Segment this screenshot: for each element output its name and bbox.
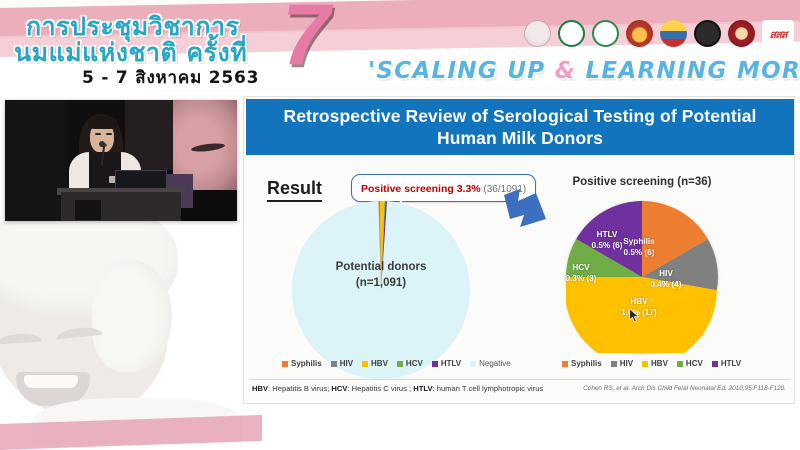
- legend-label: HIV: [340, 359, 353, 368]
- legend-label: HTLV: [441, 359, 461, 368]
- legend-item: Syphilis: [282, 359, 322, 368]
- blue-arrow-icon: [502, 185, 550, 231]
- pie-label-hcv: HCV 0.3% (3): [560, 263, 602, 284]
- slogan-ampersand: &: [555, 58, 576, 84]
- pie-label-hiv-name: HIV: [644, 269, 688, 280]
- footnote-htlv-abbr: HTLV: [413, 384, 432, 393]
- legend-item: HCV: [677, 359, 703, 368]
- red-gold-emblem-logo: [626, 20, 653, 47]
- microphone-icon: [99, 141, 105, 147]
- positive-screening-chart-heading: Positive screening (n=36): [544, 176, 740, 188]
- speaker-fringe: [88, 116, 117, 129]
- pie-label-hiv-value: 0.4% (4): [644, 280, 688, 291]
- potential-donors-label-line1: Potential donors: [292, 259, 470, 275]
- legend-item: HBV: [642, 359, 668, 368]
- conference-header-banner: การประชุมวิชาการ นมแม่แห่งชาติ ครั้งที่ …: [0, 0, 800, 92]
- callout-primary-text: Positive screening 3.3%: [361, 183, 481, 195]
- slogan-part2: LEARNING MORE': [576, 58, 800, 84]
- legend-item: HCV: [397, 359, 423, 368]
- legend-label: HIV: [620, 359, 633, 368]
- potential-donors-center-label: Potential donors (n=1,091): [292, 259, 470, 291]
- podium-front-panel: [75, 200, 101, 220]
- legend-item: HIV: [611, 359, 633, 368]
- legend-swatch-negative-icon: [470, 361, 476, 367]
- legend-swatch-hbv-icon: [362, 361, 368, 367]
- speaker-eye-left: [95, 133, 101, 135]
- footnote-divider: [250, 379, 790, 380]
- legend-label: HCV: [406, 359, 423, 368]
- page-title: Retrospective Review of Serological Test…: [246, 105, 794, 150]
- presentation-screen: การประชุมวิชาการ นมแม่แห่งชาติ ครั้งที่ …: [0, 0, 800, 450]
- pie-label-htlv-name: HTLV: [583, 230, 631, 241]
- green-medical-logo-2: [592, 20, 619, 47]
- conference-edition-number: 7: [282, 0, 330, 78]
- potential-donors-label-line2: (n=1,091): [292, 275, 470, 291]
- legend-label: Negative: [479, 359, 511, 368]
- slide-title-bar: Retrospective Review of Serological Test…: [246, 99, 794, 155]
- pie-label-htlv: HTLV 0.5% (6): [583, 230, 631, 251]
- speaker-video-panel[interactable]: [5, 100, 237, 221]
- green-medical-logo-1: [558, 20, 585, 47]
- legend-swatch-htlv-icon: [432, 361, 438, 367]
- legend-swatch-hbv-icon: [642, 361, 648, 367]
- footnote-hcv-abbr: HCV: [331, 384, 347, 393]
- legend-potential-donors: Syphilis HIV HBV HCV HTLV Negative: [282, 359, 511, 368]
- footnote-hbv-text: : Hepatitis B virus;: [268, 384, 331, 393]
- conference-slogan: 'SCALING UP & LEARNING MORE': [368, 58, 800, 84]
- legend-label: Syphilis: [571, 359, 602, 368]
- footnote-hbv-abbr: HBV: [252, 384, 268, 393]
- sponsor-logo-strip: สสส: [524, 20, 794, 47]
- pie-label-hcv-name: HCV: [560, 263, 602, 274]
- legend-swatch-syphilis-icon: [562, 361, 568, 367]
- royal-seal-logo: [524, 20, 551, 47]
- thaihealth-sss-logo: สสส: [762, 20, 794, 47]
- legend-swatch-syphilis-icon: [282, 361, 288, 367]
- tricolor-garuda-logo: [660, 20, 687, 47]
- legend-label: HBV: [371, 359, 388, 368]
- red-circular-seal-logo: [728, 20, 755, 47]
- pie-label-hbv-name: HBV: [614, 297, 664, 308]
- result-heading: Result: [267, 178, 322, 202]
- legend-swatch-hiv-icon: [331, 361, 337, 367]
- legend-item: HBV: [362, 359, 388, 368]
- pie-label-hcv-value: 0.3% (3): [560, 274, 602, 285]
- legend-item: Negative: [470, 359, 511, 368]
- pie-label-htlv-value: 0.5% (6): [583, 241, 631, 252]
- watermark-baby-hat-brim: [92, 260, 172, 372]
- legend-item: Syphilis: [562, 359, 602, 368]
- legend-swatch-hiv-icon: [611, 361, 617, 367]
- watermark-baby-teeth: [24, 375, 78, 388]
- video-background-left: [5, 100, 67, 221]
- legend-swatch-hcv-icon: [397, 361, 403, 367]
- footnote-hcv-text: : Hepatitis C virus ;: [347, 384, 413, 393]
- legend-positive-screening: Syphilis HIV HBV HCV HTLV: [562, 359, 741, 368]
- speaker-eye-right: [106, 133, 112, 135]
- source-citation: Cohen RS, et al. Arch Dis Child Fetal Ne…: [583, 385, 786, 392]
- legend-label: HCV: [686, 359, 703, 368]
- legend-swatch-hcv-icon: [677, 361, 683, 367]
- legend-label: HTLV: [721, 359, 741, 368]
- legend-label: Syphilis: [291, 359, 322, 368]
- legend-swatch-htlv-icon: [712, 361, 718, 367]
- legend-item: HTLV: [712, 359, 741, 368]
- abbreviation-footnote: HBV: Hepatitis B virus; HCV: Hepatitis C…: [252, 384, 543, 393]
- mouse-cursor-icon: [629, 308, 640, 323]
- black-circle-logo: [694, 20, 721, 47]
- footnote-htlv-text: : human T cell lymphotropic virus: [433, 384, 544, 393]
- conference-date-thai: 5 - 7 สิงหาคม 2563: [82, 64, 259, 91]
- slide-content-area: Retrospective Review of Serological Test…: [243, 96, 795, 404]
- baby-watermark-image: [0, 212, 250, 444]
- slogan-part1: 'SCALING UP: [368, 58, 555, 84]
- legend-item: HTLV: [432, 359, 461, 368]
- legend-label: HBV: [651, 359, 668, 368]
- legend-item: HIV: [331, 359, 353, 368]
- pie-label-hiv: HIV 0.4% (4): [644, 269, 688, 290]
